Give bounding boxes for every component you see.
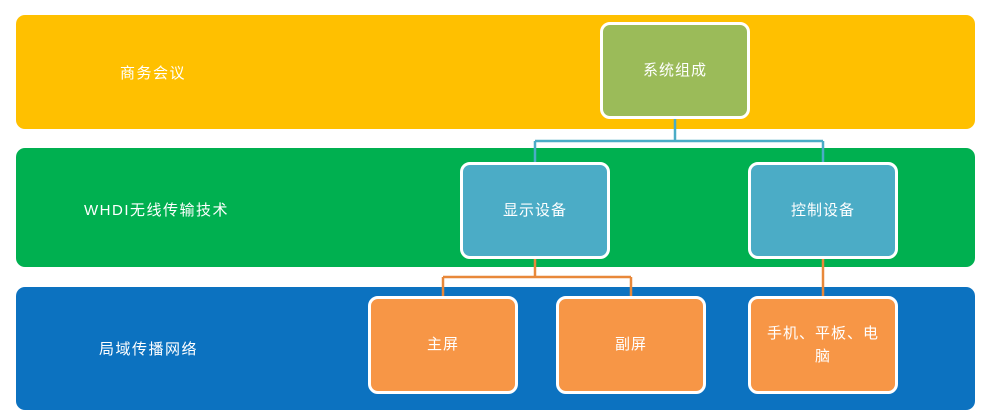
node-sub-screen[interactable]: 副屏 [556,296,706,394]
node-display-device[interactable]: 显示设备 [460,162,610,259]
node-main-screen-label: 主屏 [427,333,459,356]
node-control-device-label: 控制设备 [791,199,855,222]
org-chart-diagram: 商务会议 WHDI无线传输技术 局域传播网络 系统组成 显示设备 控制设备 主屏 [0,0,990,418]
node-mobile-devices-label: 手机、平板、电脑 [761,322,885,369]
layer-label-network: 局域传播网络 [99,338,198,359]
node-mobile-devices[interactable]: 手机、平板、电脑 [748,296,898,394]
node-control-device[interactable]: 控制设备 [748,162,898,259]
node-system-composition[interactable]: 系统组成 [600,22,750,119]
node-main-screen[interactable]: 主屏 [368,296,518,394]
node-system-composition-label: 系统组成 [643,59,707,82]
node-sub-screen-label: 副屏 [615,333,647,356]
node-display-device-label: 显示设备 [503,199,567,222]
layer-label-application: 商务会议 [120,62,186,83]
layer-label-transmission: WHDI无线传输技术 [84,199,229,220]
